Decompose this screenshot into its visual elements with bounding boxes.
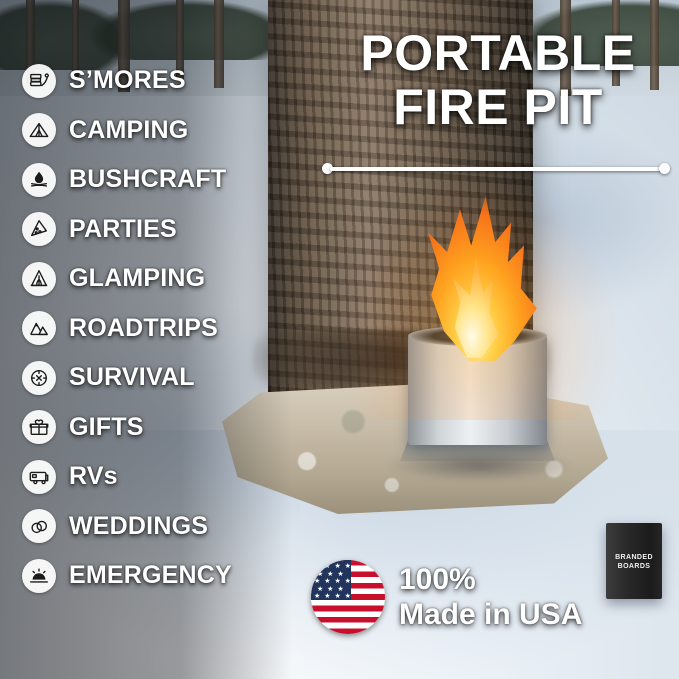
feature-item-roadtrips: ROADTRIPS — [22, 304, 292, 354]
gift-icon — [22, 410, 56, 444]
feature-item-emergency: EMERGENCY — [22, 551, 292, 601]
tent-icon — [22, 113, 56, 147]
feature-label: GLAMPING — [69, 264, 205, 293]
feature-item-bushcraft: BUSHCRAFT — [22, 155, 292, 205]
rv-icon — [22, 460, 56, 494]
headline-divider — [322, 166, 670, 172]
party-hat-icon — [22, 212, 56, 246]
divider-bar — [330, 167, 662, 171]
feature-label: ROADTRIPS — [69, 314, 218, 343]
feature-item-weddings: WEDDINGS — [22, 502, 292, 552]
feature-label: S’MORES — [69, 66, 186, 95]
feature-label: PARTIES — [69, 215, 177, 244]
feature-label: BUSHCRAFT — [69, 165, 226, 194]
campfire-icon — [22, 163, 56, 197]
feature-item-parties: PARTIES — [22, 205, 292, 255]
headline-line-1: PORTABLE — [330, 26, 666, 80]
emergency-icon — [22, 559, 56, 593]
product-image: BRANDED BOARDS S’MORES — [0, 0, 679, 679]
feature-label: WEDDINGS — [69, 512, 208, 541]
mountain-road-icon — [22, 311, 56, 345]
usa-percent: 100% — [399, 562, 582, 597]
feature-item-gifts: GIFTS — [22, 403, 292, 453]
feature-label: SURVIVAL — [69, 363, 195, 392]
rings-icon — [22, 509, 56, 543]
feature-item-smores: S’MORES — [22, 56, 292, 106]
product-box-brand-line1: BRANDED — [610, 553, 658, 562]
headline: PORTABLE FIRE PIT — [330, 26, 666, 134]
feature-label: CAMPING — [69, 116, 188, 145]
usa-flag-icon: ★ ★ ★ ★ ★ ★ ★ ★ ★ ★ ★ ★ ★ ★ ★ ★ ★ ★ — [311, 560, 385, 634]
feature-list: S’MORES CAMPING BUSHCRAFT — [22, 56, 292, 601]
feature-label: GIFTS — [69, 413, 144, 442]
feature-item-glamping: GLAMPING — [22, 254, 292, 304]
product-box-label: BRANDED BOARDS — [610, 553, 658, 571]
survival-kit-icon — [22, 361, 56, 395]
product-box-brand-line2: BOARDS — [610, 562, 658, 571]
feature-label: RVs — [69, 462, 118, 491]
glamping-tent-icon — [22, 262, 56, 296]
made-in-usa-text: 100% Made in USA — [399, 562, 582, 632]
feature-label: EMERGENCY — [69, 561, 232, 590]
divider-dot-right — [659, 163, 670, 174]
smores-icon — [22, 64, 56, 98]
flag-stars: ★ ★ ★ ★ ★ ★ ★ ★ ★ ★ ★ ★ ★ ★ ★ ★ ★ ★ — [311, 560, 351, 600]
usa-made-in: Made in USA — [399, 597, 582, 632]
headline-line-2: FIRE PIT — [330, 80, 666, 134]
feature-item-survival: SURVIVAL — [22, 353, 292, 403]
feature-item-camping: CAMPING — [22, 106, 292, 156]
feature-item-rvs: RVs — [22, 452, 292, 502]
made-in-usa-badge: ★ ★ ★ ★ ★ ★ ★ ★ ★ ★ ★ ★ ★ ★ ★ ★ ★ ★ 100%… — [311, 560, 582, 634]
